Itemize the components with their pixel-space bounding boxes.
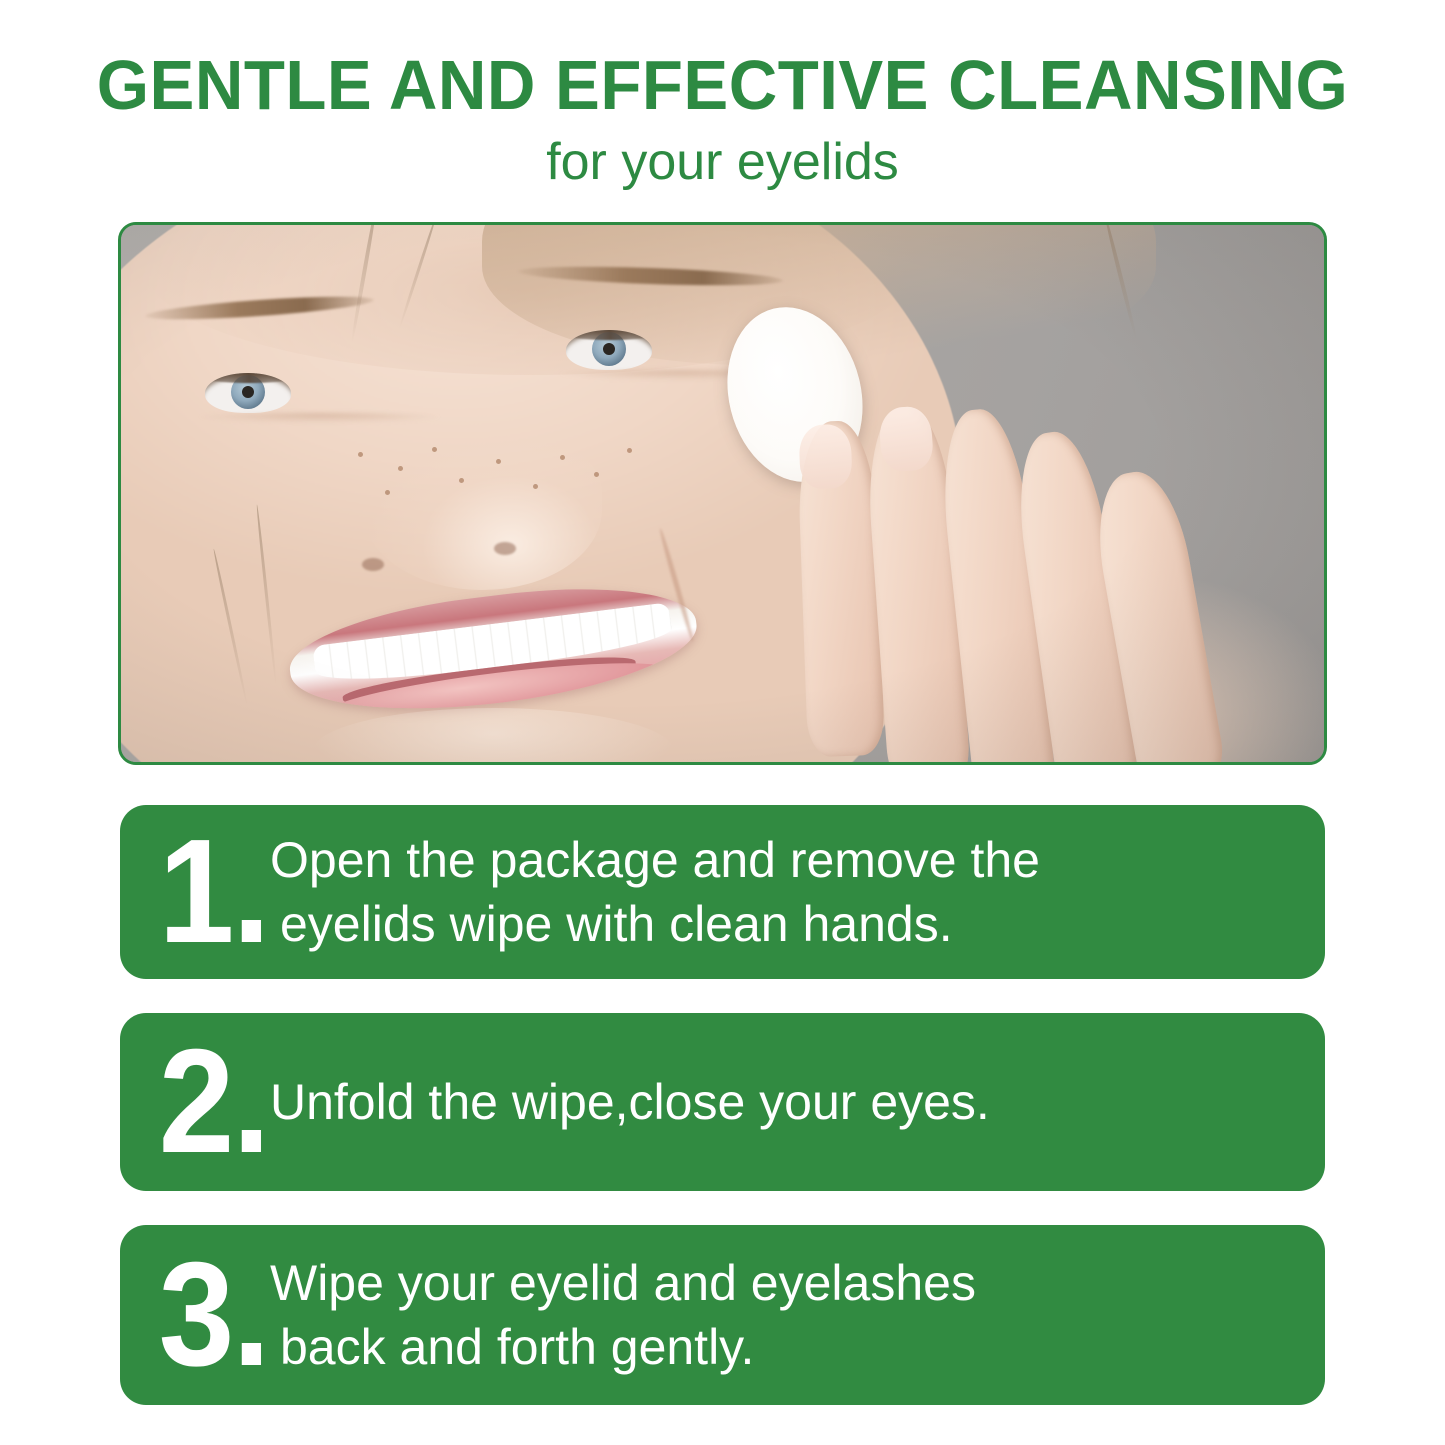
step-text-2: Unfold the wipe,close your eyes. xyxy=(270,1070,1325,1134)
freckle xyxy=(560,455,565,460)
hero-photo-frame xyxy=(118,222,1327,765)
freckles xyxy=(338,440,675,526)
step-2-line-1: Unfold the wipe,close your eyes. xyxy=(270,1074,990,1130)
step-number-1: 1. xyxy=(120,827,258,957)
step-1-line-1: Open the package and remove the xyxy=(270,832,1040,888)
hand xyxy=(768,355,1303,762)
freckle xyxy=(385,490,390,495)
pupil xyxy=(603,343,615,355)
hero-photo xyxy=(121,225,1324,762)
page-subtitle: for your eyelids xyxy=(0,122,1445,190)
under-eye-shading xyxy=(193,413,446,423)
nostril xyxy=(494,542,516,555)
nostril xyxy=(362,558,384,571)
eyelash xyxy=(566,330,652,340)
step-text-1: Open the package and remove the eyelids … xyxy=(270,828,1325,956)
step-number-2: 2. xyxy=(120,1037,258,1167)
instruction-step-1: 1. Open the package and remove the eyeli… xyxy=(120,805,1325,979)
eyelash xyxy=(205,373,291,383)
header: GENTLE AND EFFECTIVE CLEANSING for your … xyxy=(0,0,1445,190)
infographic-page: GENTLE AND EFFECTIVE CLEANSING for your … xyxy=(0,0,1445,1445)
freckle xyxy=(594,472,599,477)
step-3-line-1: Wipe your eyelid and eyelashes xyxy=(270,1255,976,1311)
pupil xyxy=(242,386,254,398)
freckle xyxy=(533,484,538,489)
instruction-steps: 1. Open the package and remove the eyeli… xyxy=(120,805,1325,1405)
fingernail xyxy=(797,425,851,491)
freckle xyxy=(358,452,363,457)
eye-left xyxy=(205,373,291,413)
fingernail xyxy=(877,405,933,472)
instruction-step-2: 2. Unfold the wipe,close your eyes. xyxy=(120,1013,1325,1191)
step-number-3: 3. xyxy=(120,1250,258,1380)
eye-right xyxy=(566,330,652,370)
freckle xyxy=(459,478,464,483)
freckle xyxy=(627,448,632,453)
freckle xyxy=(398,466,403,471)
step-1-line-2: eyelids wipe with clean hands. xyxy=(270,892,1325,956)
instruction-step-3: 3. Wipe your eyelid and eyelashes back a… xyxy=(120,1225,1325,1405)
page-title: GENTLE AND EFFECTIVE CLEANSING xyxy=(29,0,1416,122)
freckle xyxy=(432,447,437,452)
freckle xyxy=(496,459,501,464)
step-3-line-2: back and forth gently. xyxy=(270,1315,1325,1379)
step-text-3: Wipe your eyelid and eyelashes back and … xyxy=(270,1251,1325,1379)
